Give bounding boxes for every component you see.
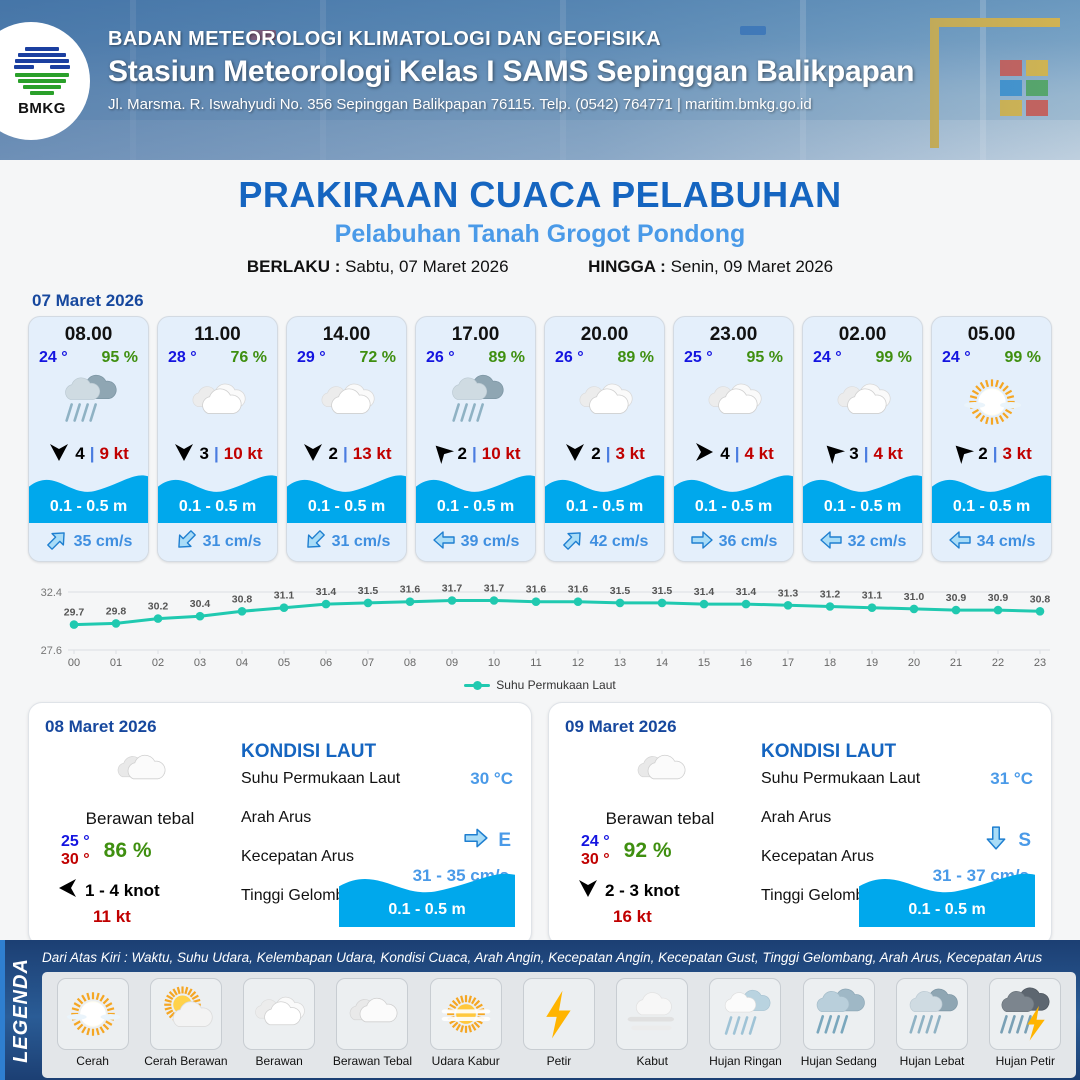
agency-name: BADAN METEOROLOGI KLIMATOLOGI DAN GEOFIS… bbox=[108, 28, 1048, 51]
svg-text:32.4: 32.4 bbox=[41, 587, 62, 599]
card-current-speed: 31 cm/s bbox=[203, 533, 262, 551]
card-wind-degree: 2 bbox=[591, 444, 600, 464]
valid-until-label: HINGGA : bbox=[588, 257, 666, 276]
svg-text:23: 23 bbox=[1034, 657, 1046, 669]
forecast-cards-row: 08.00 24 ° 95 % 4 | 9 kt 0.1 - 0.5 m 35 … bbox=[0, 316, 1080, 562]
svg-text:31.7: 31.7 bbox=[484, 583, 505, 595]
card-wave: 0.1 - 0.5 m bbox=[803, 471, 922, 523]
current-speed-label: Kecepatan Arus bbox=[241, 848, 354, 865]
svg-text:31.7: 31.7 bbox=[442, 583, 463, 595]
card-humidity: 95 % bbox=[102, 349, 138, 367]
svg-text:31.1: 31.1 bbox=[862, 590, 883, 602]
card-wave: 0.1 - 0.5 m bbox=[416, 471, 535, 523]
svg-text:31.6: 31.6 bbox=[526, 584, 547, 596]
day-humidity: 86 % bbox=[104, 839, 152, 863]
partly-cloudy-icon bbox=[150, 978, 222, 1050]
legend-item: Udara Kabur bbox=[419, 978, 512, 1076]
rain-heavy-icon bbox=[896, 978, 968, 1050]
station-name: Stasiun Meteorologi Kelas I SAMS Sepingg… bbox=[108, 55, 1048, 89]
day-sea-conditions: KONDISI LAUT Suhu Permukaan Laut 31 °C A… bbox=[755, 741, 1035, 927]
daily-summary-panel[interactable]: 08 Maret 2026 Berawan tebal 25 ° 30 ° 86… bbox=[28, 702, 532, 946]
wind-direction-arrow-icon bbox=[693, 441, 715, 467]
current-direction-row: Arah Arus S bbox=[761, 809, 1035, 827]
lightning-icon bbox=[523, 978, 595, 1050]
card-wave-height: 0.1 - 0.5 m bbox=[674, 498, 793, 516]
day-gust: 16 kt bbox=[613, 907, 755, 927]
legend-item-label: Berawan bbox=[255, 1054, 302, 1068]
legend-item-label: Petir bbox=[547, 1054, 572, 1068]
svg-text:10: 10 bbox=[488, 657, 500, 669]
wind-direction-arrow-icon bbox=[822, 441, 844, 467]
card-wave-height: 0.1 - 0.5 m bbox=[416, 498, 535, 516]
svg-text:30.9: 30.9 bbox=[946, 592, 967, 604]
forecast-card[interactable]: 23.00 25 ° 95 % 4 | 4 kt 0.1 - 0.5 m 36 … bbox=[673, 316, 794, 562]
day-wind-range: 1 - 4 knot bbox=[85, 881, 160, 901]
svg-text:22: 22 bbox=[992, 657, 1004, 669]
valid-from-label: BERLAKU : bbox=[247, 257, 341, 276]
wind-direction-arrow-icon bbox=[48, 441, 70, 467]
legend-note: Dari Atas Kiri : Waktu, Suhu Udara, Kele… bbox=[42, 950, 1074, 965]
day-left-column: Berawan tebal 24 ° 30 ° 92 % 2 - 3 knot … bbox=[565, 741, 755, 927]
day-wave-graphic: 0.1 - 0.5 m bbox=[339, 869, 515, 927]
day-wind: 2 - 3 knot bbox=[565, 877, 755, 904]
card-wave-height: 0.1 - 0.5 m bbox=[545, 498, 664, 516]
card-humidity: 99 % bbox=[876, 349, 912, 367]
card-current: 42 cm/s bbox=[545, 523, 664, 561]
day-body: Berawan tebal 25 ° 30 ° 86 % 1 - 4 knot … bbox=[45, 741, 515, 927]
page-title: PRAKIRAAN CUACA PELABUHAN bbox=[0, 174, 1080, 216]
svg-text:12: 12 bbox=[572, 657, 584, 669]
svg-text:30.8: 30.8 bbox=[1030, 593, 1051, 605]
card-current: 35 cm/s bbox=[29, 523, 148, 561]
card-wave: 0.1 - 0.5 m bbox=[158, 471, 277, 523]
day-wave-value: 0.1 - 0.5 m bbox=[859, 901, 1035, 919]
legend-item: Petir bbox=[512, 978, 605, 1076]
svg-text:31.4: 31.4 bbox=[694, 586, 715, 598]
svg-text:31.6: 31.6 bbox=[400, 584, 421, 596]
current-speed-row: Kecepatan Arus 31 - 35 cm/s bbox=[241, 848, 515, 866]
card-current-speed: 36 cm/s bbox=[719, 533, 778, 551]
forecast-card[interactable]: 14.00 29 ° 72 % 2 | 13 kt 0.1 - 0.5 m 31… bbox=[286, 316, 407, 562]
sea-section-title: KONDISI LAUT bbox=[241, 741, 515, 763]
day-temp-min: 24 ° bbox=[581, 833, 610, 851]
card-time: 08.00 bbox=[29, 317, 148, 346]
card-wind-speed: 13 kt bbox=[353, 444, 392, 464]
svg-text:16: 16 bbox=[740, 657, 752, 669]
cloudy-icon bbox=[674, 367, 793, 437]
card-wind-speed: 3 kt bbox=[615, 444, 644, 464]
card-wind-degree: 4 bbox=[75, 444, 84, 464]
card-current-speed: 35 cm/s bbox=[74, 533, 133, 551]
svg-text:30.2: 30.2 bbox=[148, 601, 169, 613]
svg-text:31.4: 31.4 bbox=[316, 586, 337, 598]
svg-text:30.9: 30.9 bbox=[988, 592, 1009, 604]
card-wind-speed: 3 kt bbox=[1002, 444, 1031, 464]
forecast-card[interactable]: 20.00 26 ° 89 % 2 | 3 kt 0.1 - 0.5 m 42 … bbox=[544, 316, 665, 562]
card-wave: 0.1 - 0.5 m bbox=[545, 471, 664, 523]
svg-text:31.1: 31.1 bbox=[274, 590, 295, 602]
legend-item-label: Berawan Tebal bbox=[333, 1054, 412, 1068]
card-time: 14.00 bbox=[287, 317, 406, 346]
chart-legend-label: Suhu Permukaan Laut bbox=[496, 678, 615, 692]
day-humidity: 92 % bbox=[624, 839, 672, 863]
legend-item: Hujan Petir bbox=[979, 978, 1072, 1076]
svg-text:13: 13 bbox=[614, 657, 626, 669]
card-wave-height: 0.1 - 0.5 m bbox=[158, 498, 277, 516]
legend-item: Hujan Sedang bbox=[792, 978, 885, 1076]
svg-text:30.4: 30.4 bbox=[190, 598, 211, 610]
card-wind: 2 | 13 kt bbox=[287, 437, 406, 471]
day-temp-min: 25 ° bbox=[61, 833, 90, 851]
current-speed-label: Kecepatan Arus bbox=[761, 848, 874, 865]
card-temp-humidity: 26 ° 89 % bbox=[545, 346, 664, 367]
svg-text:07: 07 bbox=[362, 657, 374, 669]
card-wind-speed: 10 kt bbox=[482, 444, 521, 464]
day-condition: Berawan tebal bbox=[565, 809, 755, 829]
day-left-column: Berawan tebal 25 ° 30 ° 86 % 1 - 4 knot … bbox=[45, 741, 235, 927]
card-current-speed: 42 cm/s bbox=[590, 533, 649, 551]
card-wave: 0.1 - 0.5 m bbox=[29, 471, 148, 523]
legend-item-label: Cerah bbox=[76, 1054, 109, 1068]
card-wave-height: 0.1 - 0.5 m bbox=[803, 498, 922, 516]
legend-item-label: Hujan Lebat bbox=[900, 1054, 965, 1068]
legend-side-label: LEGENDA bbox=[4, 940, 38, 1080]
svg-text:19: 19 bbox=[866, 657, 878, 669]
svg-text:29.8: 29.8 bbox=[106, 605, 127, 617]
cloudy-icon bbox=[545, 367, 664, 437]
svg-text:31.5: 31.5 bbox=[652, 585, 673, 597]
svg-text:11: 11 bbox=[530, 657, 541, 669]
day-temperatures: 24 ° 30 ° 92 % bbox=[565, 833, 755, 869]
legend-item: Berawan Tebal bbox=[326, 978, 419, 1076]
validity-row: BERLAKU : Sabtu, 07 Maret 2026 HINGGA : … bbox=[0, 257, 1080, 277]
legend-item: Hujan Lebat bbox=[885, 978, 978, 1076]
wind-separator: | bbox=[735, 444, 740, 464]
card-wind-degree: 3 bbox=[200, 444, 209, 464]
cloudy-icon bbox=[803, 367, 922, 437]
card-temp-humidity: 29 ° 72 % bbox=[287, 346, 406, 367]
svg-text:18: 18 bbox=[824, 657, 836, 669]
card-wind-degree: 3 bbox=[849, 444, 858, 464]
svg-text:02: 02 bbox=[152, 657, 164, 669]
cloudy-thick-icon bbox=[565, 741, 755, 801]
svg-text:31.5: 31.5 bbox=[358, 585, 379, 597]
day-date: 08 Maret 2026 bbox=[45, 717, 515, 737]
card-temperature: 26 ° bbox=[426, 349, 455, 367]
card-temp-humidity: 24 ° 95 % bbox=[29, 346, 148, 367]
day-temp-max: 30 ° bbox=[61, 851, 90, 869]
svg-text:05: 05 bbox=[278, 657, 290, 669]
card-wind-degree: 2 bbox=[978, 444, 987, 464]
svg-text:00: 00 bbox=[68, 657, 80, 669]
current-direction-label: Arah Arus bbox=[761, 809, 831, 826]
legend-item: Kabut bbox=[606, 978, 699, 1076]
legend-item: Cerah bbox=[46, 978, 139, 1076]
card-wind: 2 | 3 kt bbox=[545, 437, 664, 471]
wind-separator: | bbox=[606, 444, 611, 464]
forecast-card[interactable]: 11.00 28 ° 76 % 3 | 10 kt 0.1 - 0.5 m 31… bbox=[157, 316, 278, 562]
header-text-block: BADAN METEOROLOGI KLIMATOLOGI DAN GEOFIS… bbox=[108, 28, 1048, 113]
wind-direction-arrow-icon bbox=[577, 877, 599, 904]
legend-item-label: Hujan Sedang bbox=[801, 1054, 877, 1068]
card-temperature: 24 ° bbox=[813, 349, 842, 367]
card-time: 17.00 bbox=[416, 317, 535, 346]
svg-text:08: 08 bbox=[404, 657, 416, 669]
page-header: BMKG BADAN METEOROLOGI KLIMATOLOGI DAN G… bbox=[0, 0, 1080, 160]
card-current: 34 cm/s bbox=[932, 523, 1051, 561]
legend-item: Berawan bbox=[233, 978, 326, 1076]
svg-text:09: 09 bbox=[446, 657, 458, 669]
card-current-speed: 34 cm/s bbox=[977, 533, 1036, 551]
sst-value: 31 °C bbox=[990, 769, 1033, 789]
card-wind: 4 | 4 kt bbox=[674, 437, 793, 471]
forecast-card[interactable]: 05.00 24 ° 99 % 2 | 3 kt 0.1 - 0.5 m 34 … bbox=[931, 316, 1052, 562]
card-current: 31 cm/s bbox=[158, 523, 277, 561]
cloudy-icon bbox=[287, 367, 406, 437]
wind-separator: | bbox=[864, 444, 869, 464]
day-wind-range: 2 - 3 knot bbox=[605, 881, 680, 901]
svg-text:04: 04 bbox=[236, 657, 248, 669]
legend-item: Hujan Ringan bbox=[699, 978, 792, 1076]
current-direction-label: Arah Arus bbox=[241, 809, 311, 826]
station-address: Jl. Marsma. R. Iswahyudi No. 356 Sepingg… bbox=[108, 96, 1048, 113]
legend-item-label: Cerah Berawan bbox=[144, 1054, 227, 1068]
svg-text:31.5: 31.5 bbox=[610, 585, 631, 597]
current-direction-arrow-icon bbox=[432, 528, 456, 557]
svg-text:31.4: 31.4 bbox=[736, 586, 757, 598]
card-wind: 2 | 10 kt bbox=[416, 437, 535, 471]
daily-summary-panel[interactable]: 09 Maret 2026 Berawan tebal 24 ° 30 ° 92… bbox=[548, 702, 1052, 946]
bmkg-logo-text: BMKG bbox=[18, 100, 66, 117]
wind-separator: | bbox=[993, 444, 998, 464]
forecast-card[interactable]: 08.00 24 ° 95 % 4 | 9 kt 0.1 - 0.5 m 35 … bbox=[28, 316, 149, 562]
card-humidity: 72 % bbox=[360, 349, 396, 367]
card-current-speed: 39 cm/s bbox=[461, 533, 520, 551]
forecast-card[interactable]: 17.00 26 ° 89 % 2 | 10 kt 0.1 - 0.5 m 39… bbox=[415, 316, 536, 562]
svg-text:31.3: 31.3 bbox=[778, 587, 799, 599]
card-wind-degree: 2 bbox=[329, 444, 338, 464]
svg-text:31.0: 31.0 bbox=[904, 591, 925, 603]
legend-item-label: Hujan Petir bbox=[996, 1054, 1055, 1068]
card-wave: 0.1 - 0.5 m bbox=[674, 471, 793, 523]
fog-icon bbox=[616, 978, 688, 1050]
wind-separator: | bbox=[472, 444, 477, 464]
rain-moderate-icon bbox=[803, 978, 875, 1050]
card-humidity: 76 % bbox=[231, 349, 267, 367]
daily-summary-row: 08 Maret 2026 Berawan tebal 25 ° 30 ° 86… bbox=[0, 692, 1080, 946]
svg-text:31.2: 31.2 bbox=[820, 589, 841, 601]
current-direction-arrow-icon bbox=[174, 528, 198, 557]
card-humidity: 95 % bbox=[747, 349, 783, 367]
wind-direction-arrow-icon bbox=[951, 441, 973, 467]
card-temp-humidity: 24 ° 99 % bbox=[803, 346, 922, 367]
thunderstorm-icon bbox=[989, 978, 1061, 1050]
card-current-speed: 31 cm/s bbox=[332, 533, 391, 551]
card-temperature: 24 ° bbox=[39, 349, 68, 367]
cloudy-thick-icon bbox=[45, 741, 235, 801]
card-current: 32 cm/s bbox=[803, 523, 922, 561]
port-name: Pelabuhan Tanah Grogot Pondong bbox=[0, 220, 1080, 249]
wind-direction-arrow-icon bbox=[302, 441, 324, 467]
bmkg-logo-mark bbox=[14, 45, 70, 97]
legend-item-label: Kabut bbox=[637, 1054, 668, 1068]
card-humidity: 99 % bbox=[1005, 349, 1041, 367]
sea-section-title: KONDISI LAUT bbox=[761, 741, 1035, 763]
sst-row: Suhu Permukaan Laut 31 °C bbox=[761, 770, 1035, 788]
card-wind-degree: 2 bbox=[458, 444, 467, 464]
svg-text:15: 15 bbox=[698, 657, 710, 669]
sst-chart-svg: 32.427.629.70029.80130.20230.40330.80431… bbox=[26, 574, 1054, 674]
chart-legend-marker bbox=[464, 684, 490, 687]
svg-text:01: 01 bbox=[110, 657, 122, 669]
card-temperature: 29 ° bbox=[297, 349, 326, 367]
day-wave-graphic: 0.1 - 0.5 m bbox=[859, 869, 1035, 927]
current-direction-row: Arah Arus E bbox=[241, 809, 515, 827]
day-sea-conditions: KONDISI LAUT Suhu Permukaan Laut 30 °C A… bbox=[235, 741, 515, 927]
day-condition: Berawan tebal bbox=[45, 809, 235, 829]
wind-separator: | bbox=[343, 444, 348, 464]
legend-bar: LEGENDA Dari Atas Kiri : Waktu, Suhu Uda… bbox=[0, 940, 1080, 1080]
current-speed-row: Kecepatan Arus 31 - 37 cm/s bbox=[761, 848, 1035, 866]
card-wave: 0.1 - 0.5 m bbox=[932, 471, 1051, 523]
current-direction-arrow-icon bbox=[561, 528, 585, 557]
card-humidity: 89 % bbox=[618, 349, 654, 367]
rain-light-icon bbox=[709, 978, 781, 1050]
sst-label: Suhu Permukaan Laut bbox=[761, 770, 920, 787]
forecast-card[interactable]: 02.00 24 ° 99 % 3 | 4 kt 0.1 - 0.5 m 32 … bbox=[802, 316, 923, 562]
day-wind: 1 - 4 knot bbox=[45, 877, 235, 904]
card-wave-height: 0.1 - 0.5 m bbox=[932, 498, 1051, 516]
day-gust: 11 kt bbox=[93, 907, 235, 927]
card-temp-humidity: 25 ° 95 % bbox=[674, 346, 793, 367]
card-temperature: 24 ° bbox=[942, 349, 971, 367]
sst-chart: 32.427.629.70029.80130.20230.40330.80431… bbox=[26, 574, 1054, 674]
wind-direction-arrow-icon bbox=[173, 441, 195, 467]
svg-text:06: 06 bbox=[320, 657, 332, 669]
current-direction-arrow-icon bbox=[948, 528, 972, 557]
wind-direction-arrow-icon bbox=[431, 441, 453, 467]
legend-items-panel: Cerah Cerah Berawan Berawan Berawan Teba… bbox=[42, 972, 1076, 1078]
legend-item-label: Udara Kabur bbox=[432, 1054, 500, 1068]
svg-text:29.7: 29.7 bbox=[64, 607, 85, 619]
card-current: 36 cm/s bbox=[674, 523, 793, 561]
haze-icon bbox=[430, 978, 502, 1050]
card-wind: 3 | 10 kt bbox=[158, 437, 277, 471]
card-temp-humidity: 28 ° 76 % bbox=[158, 346, 277, 367]
title-block: PRAKIRAAN CUACA PELABUHAN Pelabuhan Tana… bbox=[0, 160, 1080, 277]
chart-legend: Suhu Permukaan Laut bbox=[0, 678, 1080, 692]
card-time: 02.00 bbox=[803, 317, 922, 346]
card-time: 11.00 bbox=[158, 317, 277, 346]
card-wind-degree: 4 bbox=[720, 444, 729, 464]
card-time: 20.00 bbox=[545, 317, 664, 346]
valid-from-value: Sabtu, 07 Maret 2026 bbox=[345, 257, 509, 276]
current-direction-arrow-icon bbox=[45, 528, 69, 557]
valid-until-value: Senin, 09 Maret 2026 bbox=[671, 257, 834, 276]
card-wind: 4 | 9 kt bbox=[29, 437, 148, 471]
legend-item: Cerah Berawan bbox=[139, 978, 232, 1076]
card-temperature: 26 ° bbox=[555, 349, 584, 367]
current-direction-arrow-icon bbox=[303, 528, 327, 557]
cloudy-thick-icon bbox=[336, 978, 408, 1050]
sst-value: 30 °C bbox=[470, 769, 513, 789]
card-humidity: 89 % bbox=[489, 349, 525, 367]
day-date: 09 Maret 2026 bbox=[565, 717, 1035, 737]
svg-text:14: 14 bbox=[656, 657, 668, 669]
cloudy-icon bbox=[158, 367, 277, 437]
svg-text:03: 03 bbox=[194, 657, 206, 669]
card-wind-speed: 4 kt bbox=[744, 444, 773, 464]
card-wind: 2 | 3 kt bbox=[932, 437, 1051, 471]
legend-item-label: Hujan Ringan bbox=[709, 1054, 782, 1068]
wind-direction-arrow-icon bbox=[564, 441, 586, 467]
wind-direction-arrow-icon bbox=[57, 877, 79, 904]
wind-separator: | bbox=[90, 444, 95, 464]
wind-separator: | bbox=[214, 444, 219, 464]
sunny-icon bbox=[57, 978, 129, 1050]
svg-text:17: 17 bbox=[782, 657, 794, 669]
card-current-speed: 32 cm/s bbox=[848, 533, 907, 551]
card-time: 05.00 bbox=[932, 317, 1051, 346]
svg-text:20: 20 bbox=[908, 657, 920, 669]
rain-heavy-icon bbox=[416, 367, 535, 437]
day-temp-max: 30 ° bbox=[581, 851, 610, 869]
card-temp-humidity: 26 ° 89 % bbox=[416, 346, 535, 367]
rain-heavy-icon bbox=[29, 367, 148, 437]
card-wave: 0.1 - 0.5 m bbox=[287, 471, 406, 523]
card-wave-height: 0.1 - 0.5 m bbox=[287, 498, 406, 516]
card-time: 23.00 bbox=[674, 317, 793, 346]
card-wind-speed: 10 kt bbox=[224, 444, 263, 464]
sst-label: Suhu Permukaan Laut bbox=[241, 770, 400, 787]
svg-text:21: 21 bbox=[950, 657, 962, 669]
svg-text:31.6: 31.6 bbox=[568, 584, 589, 596]
card-wind-speed: 9 kt bbox=[99, 444, 128, 464]
svg-text:30.8: 30.8 bbox=[232, 593, 253, 605]
sst-row: Suhu Permukaan Laut 30 °C bbox=[241, 770, 515, 788]
card-temperature: 28 ° bbox=[168, 349, 197, 367]
card-temp-humidity: 24 ° 99 % bbox=[932, 346, 1051, 367]
day-temperatures: 25 ° 30 ° 86 % bbox=[45, 833, 235, 869]
sunny-icon bbox=[932, 367, 1051, 437]
day-body: Berawan tebal 24 ° 30 ° 92 % 2 - 3 knot … bbox=[565, 741, 1035, 927]
current-direction-arrow-icon bbox=[690, 528, 714, 557]
card-wave-height: 0.1 - 0.5 m bbox=[29, 498, 148, 516]
card-current: 39 cm/s bbox=[416, 523, 535, 561]
current-direction-arrow-icon bbox=[819, 528, 843, 557]
card-temperature: 25 ° bbox=[684, 349, 713, 367]
card-wind-speed: 4 kt bbox=[873, 444, 902, 464]
cloudy-icon bbox=[243, 978, 315, 1050]
forecast-date-label: 07 Maret 2026 bbox=[32, 291, 1080, 311]
card-current: 31 cm/s bbox=[287, 523, 406, 561]
card-wind: 3 | 4 kt bbox=[803, 437, 922, 471]
day-wave-value: 0.1 - 0.5 m bbox=[339, 901, 515, 919]
svg-text:27.6: 27.6 bbox=[41, 645, 62, 657]
